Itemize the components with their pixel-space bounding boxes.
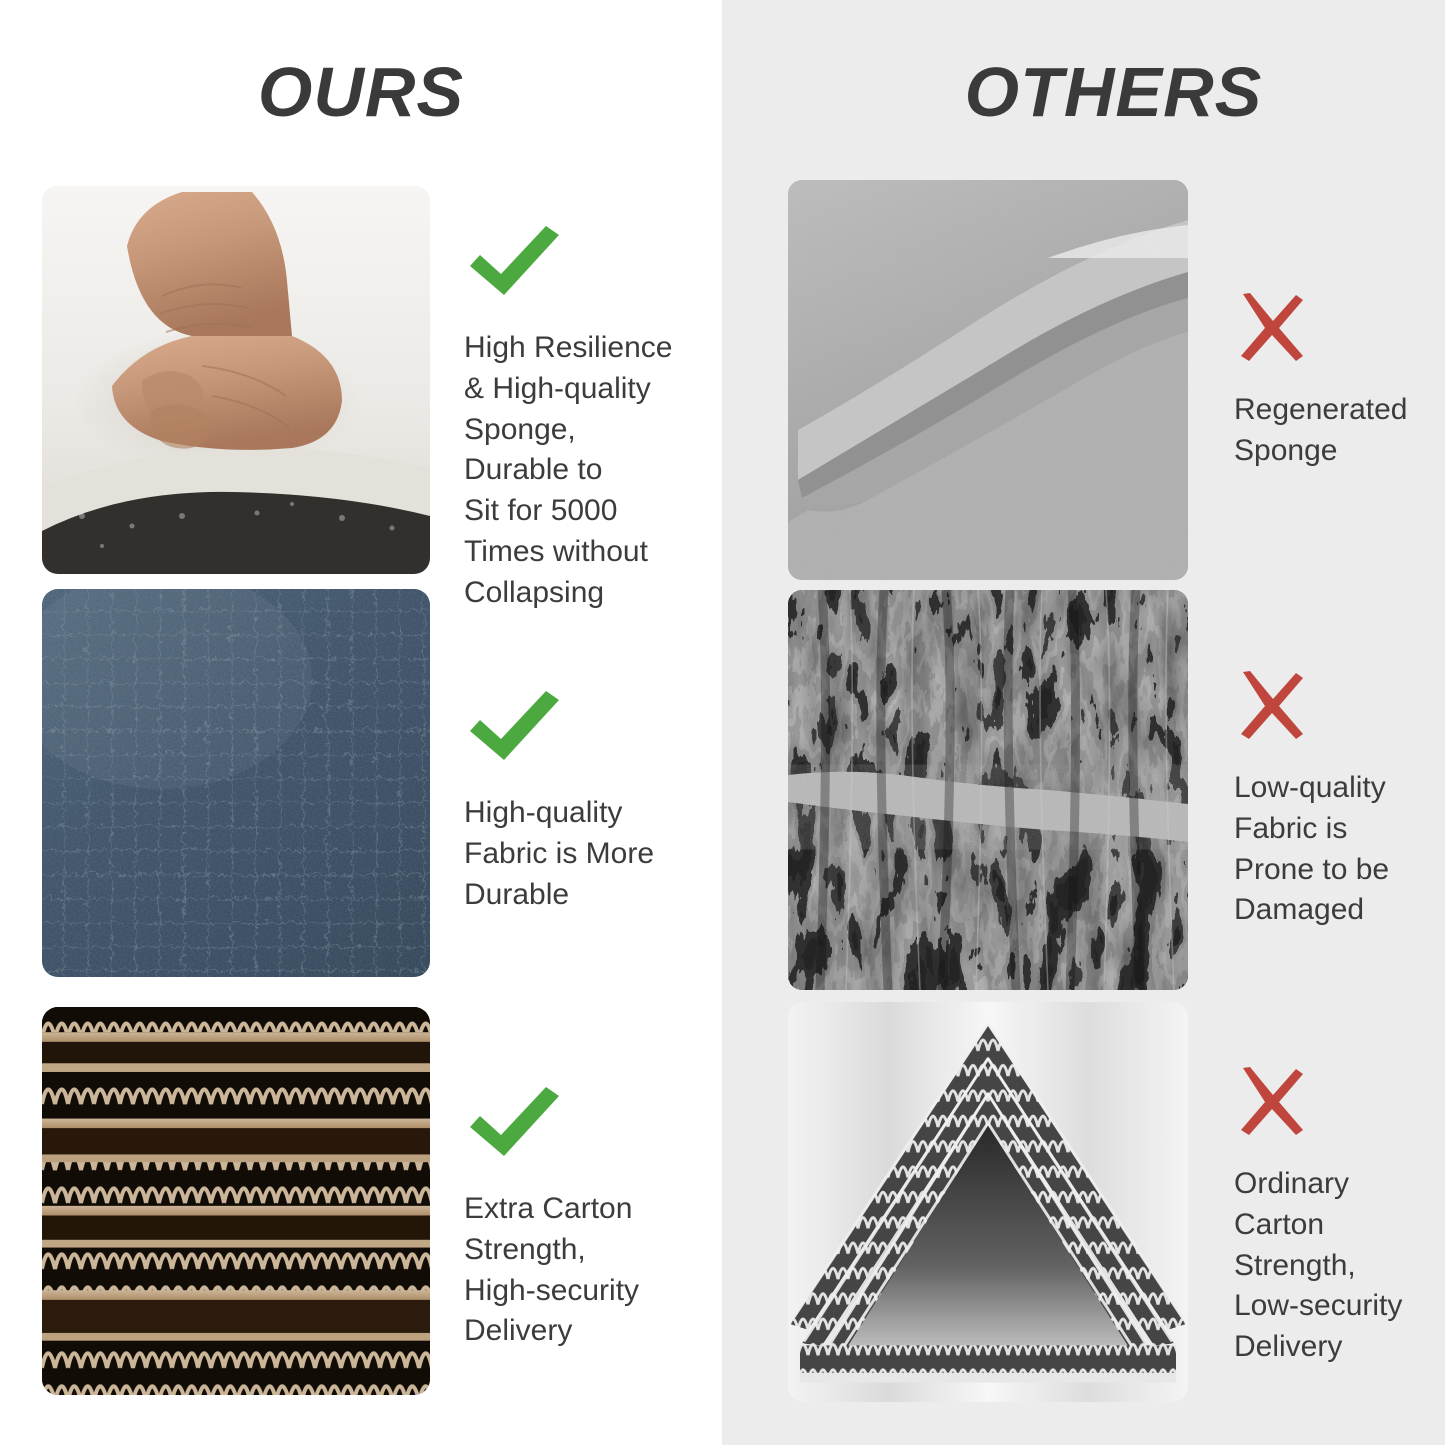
red-cross-icon: [1234, 668, 1445, 742]
feature-text-ours-2: High-quality Fabric is More Durable: [464, 793, 714, 915]
feature-note-others-2: Low-quality Fabric is Prone to be Damage…: [1234, 668, 1445, 931]
feature-row-others-3: Ordinary Carton Strength, Low-security D…: [788, 1002, 1445, 1402]
feature-row-ours-2: High-quality Fabric is More Durable: [42, 589, 714, 977]
feature-note-ours-2: High-quality Fabric is More Durable: [464, 689, 714, 915]
folded-thin-cardboard-photo: [788, 1002, 1188, 1402]
feature-text-others-1: Regenerated Sponge: [1234, 390, 1445, 472]
panel-others: OTHERS: [722, 0, 1445, 1445]
feature-text-ours-1: High Resilience & High-quality Sponge, D…: [464, 328, 714, 614]
feature-note-others-1: Regenerated Sponge: [1234, 290, 1445, 472]
green-check-icon: [464, 224, 714, 302]
red-cross-icon: [1234, 1064, 1445, 1138]
feature-note-ours-3: Extra Carton Strength, High-security Del…: [464, 1085, 714, 1352]
comparison-infographic: OURS: [0, 0, 1445, 1445]
panel-ours: OURS: [0, 0, 722, 1445]
foam-fist-press-photo: [42, 186, 430, 574]
blue-leather-fabric-photo: [42, 589, 430, 977]
feature-note-others-3: Ordinary Carton Strength, Low-security D…: [1234, 1064, 1445, 1368]
feature-row-others-1: Regenerated Sponge: [788, 180, 1445, 580]
cracked-fabric-photo: [788, 590, 1188, 990]
panel-title-others: OTHERS: [722, 52, 1445, 132]
feature-text-others-3: Ordinary Carton Strength, Low-security D…: [1234, 1164, 1445, 1368]
feature-note-ours-1: High Resilience & High-quality Sponge, D…: [464, 224, 714, 614]
feature-text-others-2: Low-quality Fabric is Prone to be Damage…: [1234, 768, 1445, 931]
feature-text-ours-3: Extra Carton Strength, High-security Del…: [464, 1189, 714, 1352]
feature-row-ours-3: Extra Carton Strength, High-security Del…: [42, 1007, 714, 1395]
feature-row-ours-1: High Resilience & High-quality Sponge, D…: [42, 186, 714, 614]
corrugated-cardboard-layers-photo: [42, 1007, 430, 1395]
green-check-icon: [464, 1085, 714, 1163]
red-cross-icon: [1234, 290, 1445, 364]
gray-regenerated-sponge-photo: [788, 180, 1188, 580]
green-check-icon: [464, 689, 714, 767]
feature-row-others-2: Low-quality Fabric is Prone to be Damage…: [788, 590, 1445, 990]
